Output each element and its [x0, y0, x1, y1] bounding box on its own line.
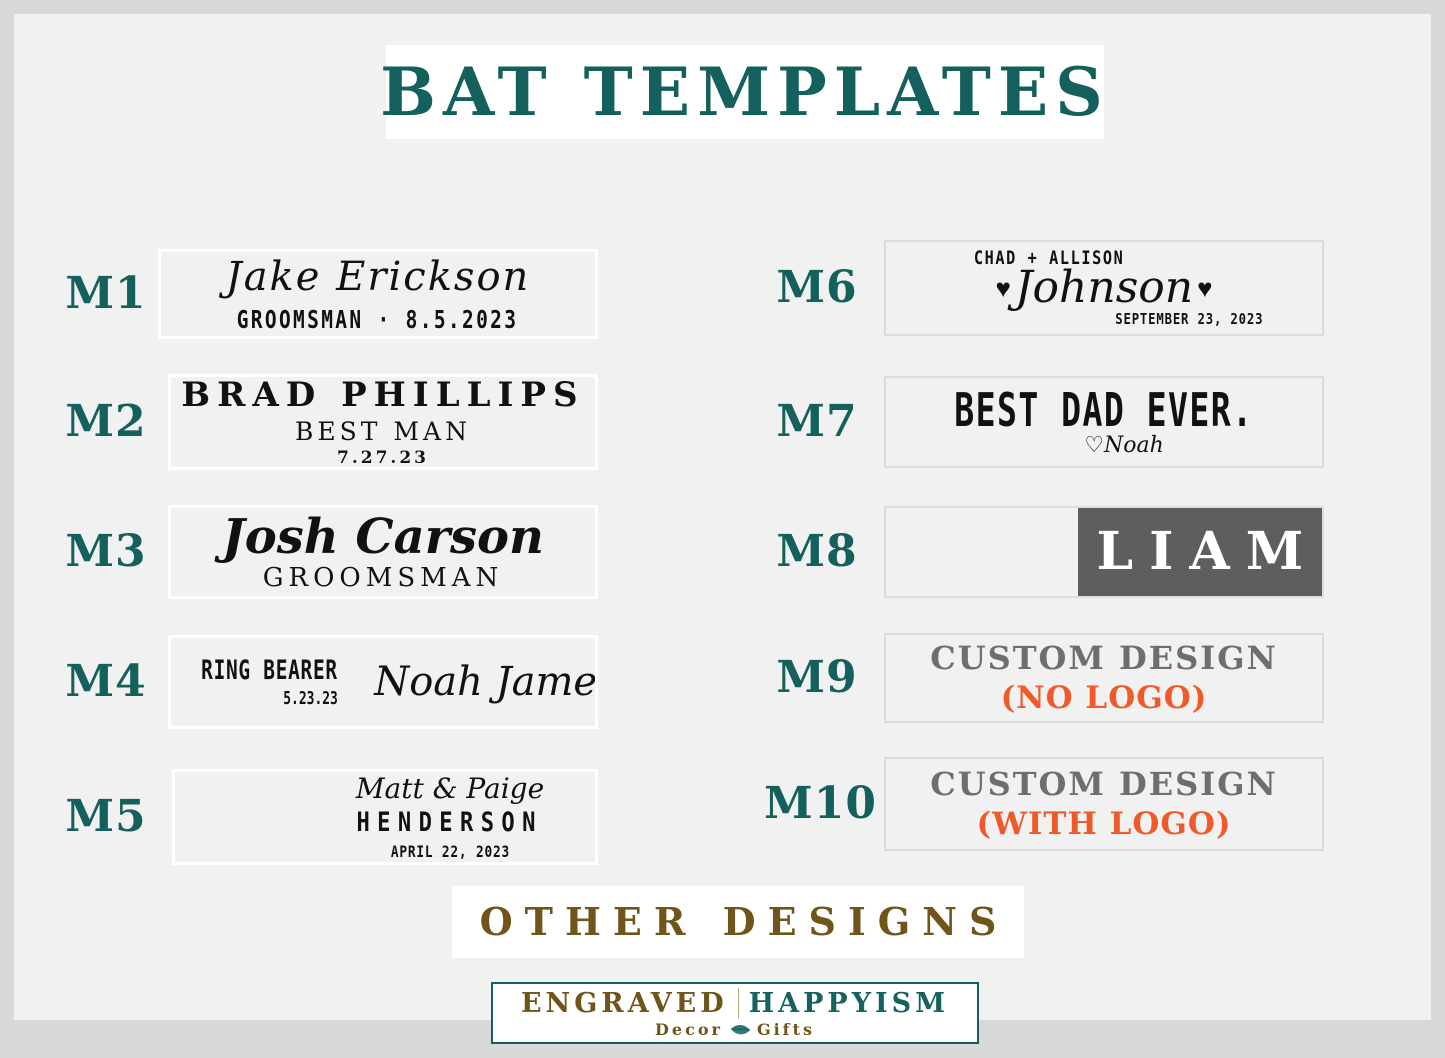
template-row-m1[interactable]: M1 Jake Erickson GROOMSMAN · 8.5.2023 [58, 236, 598, 352]
template-code-m5: M5 [58, 795, 154, 839]
leaf-icon [729, 1023, 751, 1037]
m3-name-text: Josh Carson [222, 513, 544, 561]
template-code-m7: M7 [764, 400, 870, 444]
template-code-m9: M9 [764, 656, 870, 700]
m6-lastname-text: Johnson [1015, 266, 1193, 310]
template-card-m1[interactable]: Jake Erickson GROOMSMAN · 8.5.2023 [158, 249, 598, 339]
logo-sub-gifts: Gifts [757, 1022, 815, 1038]
m9-logo-note-text: (NO LOGO) [1001, 681, 1208, 715]
m7-main-text: BEST DAD EVER. [954, 387, 1253, 433]
m10-title-text: CUSTOM DESIGN [930, 767, 1278, 802]
template-code-m2: M2 [58, 400, 154, 444]
m1-name-text: Jake Erickson [226, 257, 531, 297]
page-title: BAT TEMPLATES [380, 59, 1110, 125]
logo-wordmark-row: ENGRAVED HAPPYISM [521, 988, 949, 1018]
template-row-m6[interactable]: M6 CHAD + ALLISON ♥ Johnson ♥ SEPTEMBER … [764, 230, 1344, 346]
template-row-m3[interactable]: M3 Josh Carson GROOMSMAN [58, 496, 598, 608]
template-code-m4: M4 [58, 660, 154, 704]
template-code-m10: M10 [764, 782, 870, 826]
template-row-m10[interactable]: M10 CUSTOM DESIGN (WITH LOGO) [764, 746, 1344, 862]
template-card-m10[interactable]: CUSTOM DESIGN (WITH LOGO) [884, 757, 1324, 851]
template-card-m2[interactable]: BRAD PHILLIPS BEST MAN 7.27.23 [168, 374, 598, 470]
template-card-m5[interactable]: Matt & Paige HENDERSON APRIL 22, 2023 [172, 769, 598, 865]
template-card-m8[interactable]: LIAM [884, 506, 1324, 598]
m4-left-group: RING BEARER 5.23.23 [168, 657, 354, 708]
m9-title-text: CUSTOM DESIGN [930, 641, 1278, 676]
m5-date-text: APRIL 22, 2023 [390, 844, 509, 860]
m4-date-text: 5.23.23 [284, 690, 339, 708]
template-row-m7[interactable]: M7 BEST DAD EVER. ♡Noah [764, 366, 1344, 478]
template-card-m7[interactable]: BEST DAD EVER. ♡Noah [884, 376, 1324, 468]
m5-lastname-text: HENDERSON [357, 809, 543, 836]
template-code-m6: M6 [764, 266, 870, 310]
template-code-m3: M3 [58, 530, 154, 574]
m6-name-group: ♥ Johnson ♥ [995, 266, 1212, 310]
heart-right-icon: ♥ [1197, 275, 1212, 301]
template-row-m4[interactable]: M4 RING BEARER 5.23.23 Noah James [58, 626, 598, 738]
m2-date-text: 7.27.23 [337, 450, 429, 467]
template-row-m5[interactable]: M5 Matt & Paige HENDERSON APRIL 22, 2023 [58, 759, 598, 875]
m5-names-text: Matt & Paige [356, 775, 544, 803]
title-banner: BAT TEMPLATES [386, 45, 1104, 139]
logo-word-happyism: HAPPYISM [749, 990, 949, 1017]
m4-name-text: Noah James [374, 662, 598, 702]
template-card-m3[interactable]: Josh Carson GROOMSMAN [168, 505, 598, 599]
heart-left-icon: ♥ [995, 275, 1010, 301]
m2-role-text: BEST MAN [295, 419, 471, 444]
m10-logo-note-text: (WITH LOGO) [976, 807, 1231, 841]
template-code-m1: M1 [58, 272, 154, 316]
logo-word-engraved: ENGRAVED [521, 990, 728, 1017]
m6-couple-text: CHAD + ALLISON [974, 249, 1125, 268]
m8-dark-block: LIAM [1078, 508, 1322, 596]
m6-date-text: SEPTEMBER 23, 2023 [1115, 312, 1263, 327]
logo-divider [738, 988, 739, 1018]
logo-tagline-row: Decor Gifts [655, 1022, 815, 1038]
template-card-m4[interactable]: RING BEARER 5.23.23 Noah James [168, 635, 598, 729]
template-card-m9[interactable]: CUSTOM DESIGN (NO LOGO) [884, 633, 1324, 723]
template-code-m8: M8 [764, 530, 870, 574]
template-row-m8[interactable]: M8 LIAM [764, 496, 1344, 608]
m8-name-text: LIAM [1081, 526, 1320, 578]
other-designs-banner: OTHER DESIGNS [452, 886, 1024, 958]
template-card-m6[interactable]: CHAD + ALLISON ♥ Johnson ♥ SEPTEMBER 23,… [884, 240, 1324, 336]
m2-name-text: BRAD PHILLIPS [181, 378, 584, 412]
poster-canvas: BAT TEMPLATES M1 Jake Erickson GROOMSMAN… [14, 14, 1431, 1020]
m1-subtitle-text: GROOMSMAN · 8.5.2023 [237, 307, 519, 332]
template-row-m2[interactable]: M2 BRAD PHILLIPS BEST MAN 7.27.23 [58, 366, 598, 478]
m7-signature-text: ♡Noah [1084, 435, 1164, 457]
other-designs-text: OTHER DESIGNS [468, 903, 1009, 941]
m3-role-text: GROOMSMAN [263, 565, 504, 591]
template-row-m9[interactable]: M9 CUSTOM DESIGN (NO LOGO) [764, 622, 1344, 734]
logo-sub-decor: Decor [655, 1022, 723, 1038]
brand-logo: ENGRAVED HAPPYISM Decor Gifts [491, 982, 979, 1044]
m4-role-text: RING BEARER [202, 657, 339, 684]
